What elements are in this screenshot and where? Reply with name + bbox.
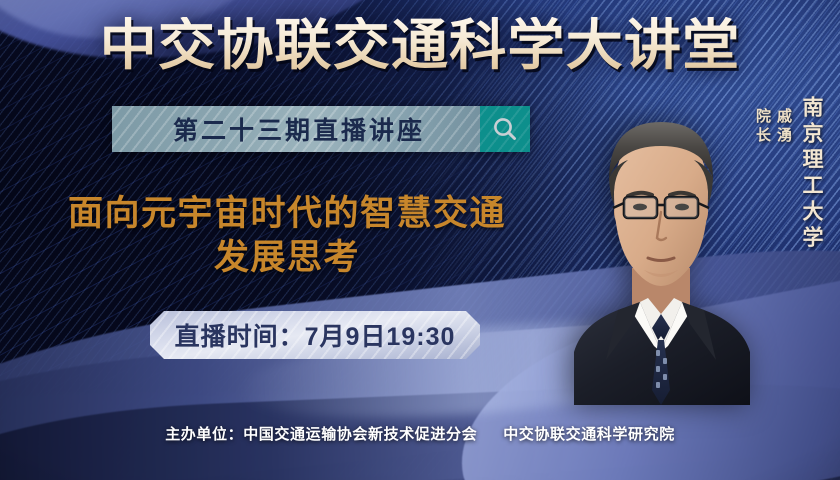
speaker-identity: 戚湧 院长 <box>752 108 794 146</box>
footer-organizers: 主办单位：中国交通运输协会新技术促进分会中交协联交通科学研究院 <box>0 423 840 444</box>
episode-bar-fill: 第二十三期直播讲座 <box>112 106 480 152</box>
organizer-secondary: 中交协联交通科学研究院 <box>503 426 675 443</box>
lecture-title: 面向元宇宙时代的智慧交通 发展思考 <box>22 192 552 281</box>
episode-bar-label: 第二十三期直播讲座 <box>167 111 425 147</box>
speaker-name: 戚湧 <box>773 108 794 146</box>
search-button[interactable] <box>480 106 530 152</box>
main-title: 中交协联交通科学大讲堂 <box>0 17 840 75</box>
episode-bar[interactable]: 第二十三期直播讲座 <box>112 106 530 152</box>
speaker-portrait <box>566 100 756 405</box>
poster-canvas: 中交协联交通科学大讲堂 第二十三期直播讲座 面向元宇宙时代的智慧交通 发展思考 … <box>0 0 840 480</box>
livestream-time-text: 直播时间：7月9日19:30 <box>175 317 456 353</box>
speaker-title: 院长 <box>752 108 773 146</box>
speaker-affiliation: 南京理工大学 <box>796 96 826 252</box>
lecture-title-line1: 面向元宇宙时代的智慧交通 <box>68 194 506 233</box>
organizer-primary: 主办单位：中国交通运输协会新技术促进分会 <box>165 426 477 443</box>
search-icon <box>491 115 519 143</box>
main-title-text: 中交协联交通科学大讲堂 <box>100 17 741 75</box>
lecture-title-line2: 发展思考 <box>22 236 552 280</box>
livestream-time-badge: 直播时间：7月9日19:30 <box>150 311 480 359</box>
